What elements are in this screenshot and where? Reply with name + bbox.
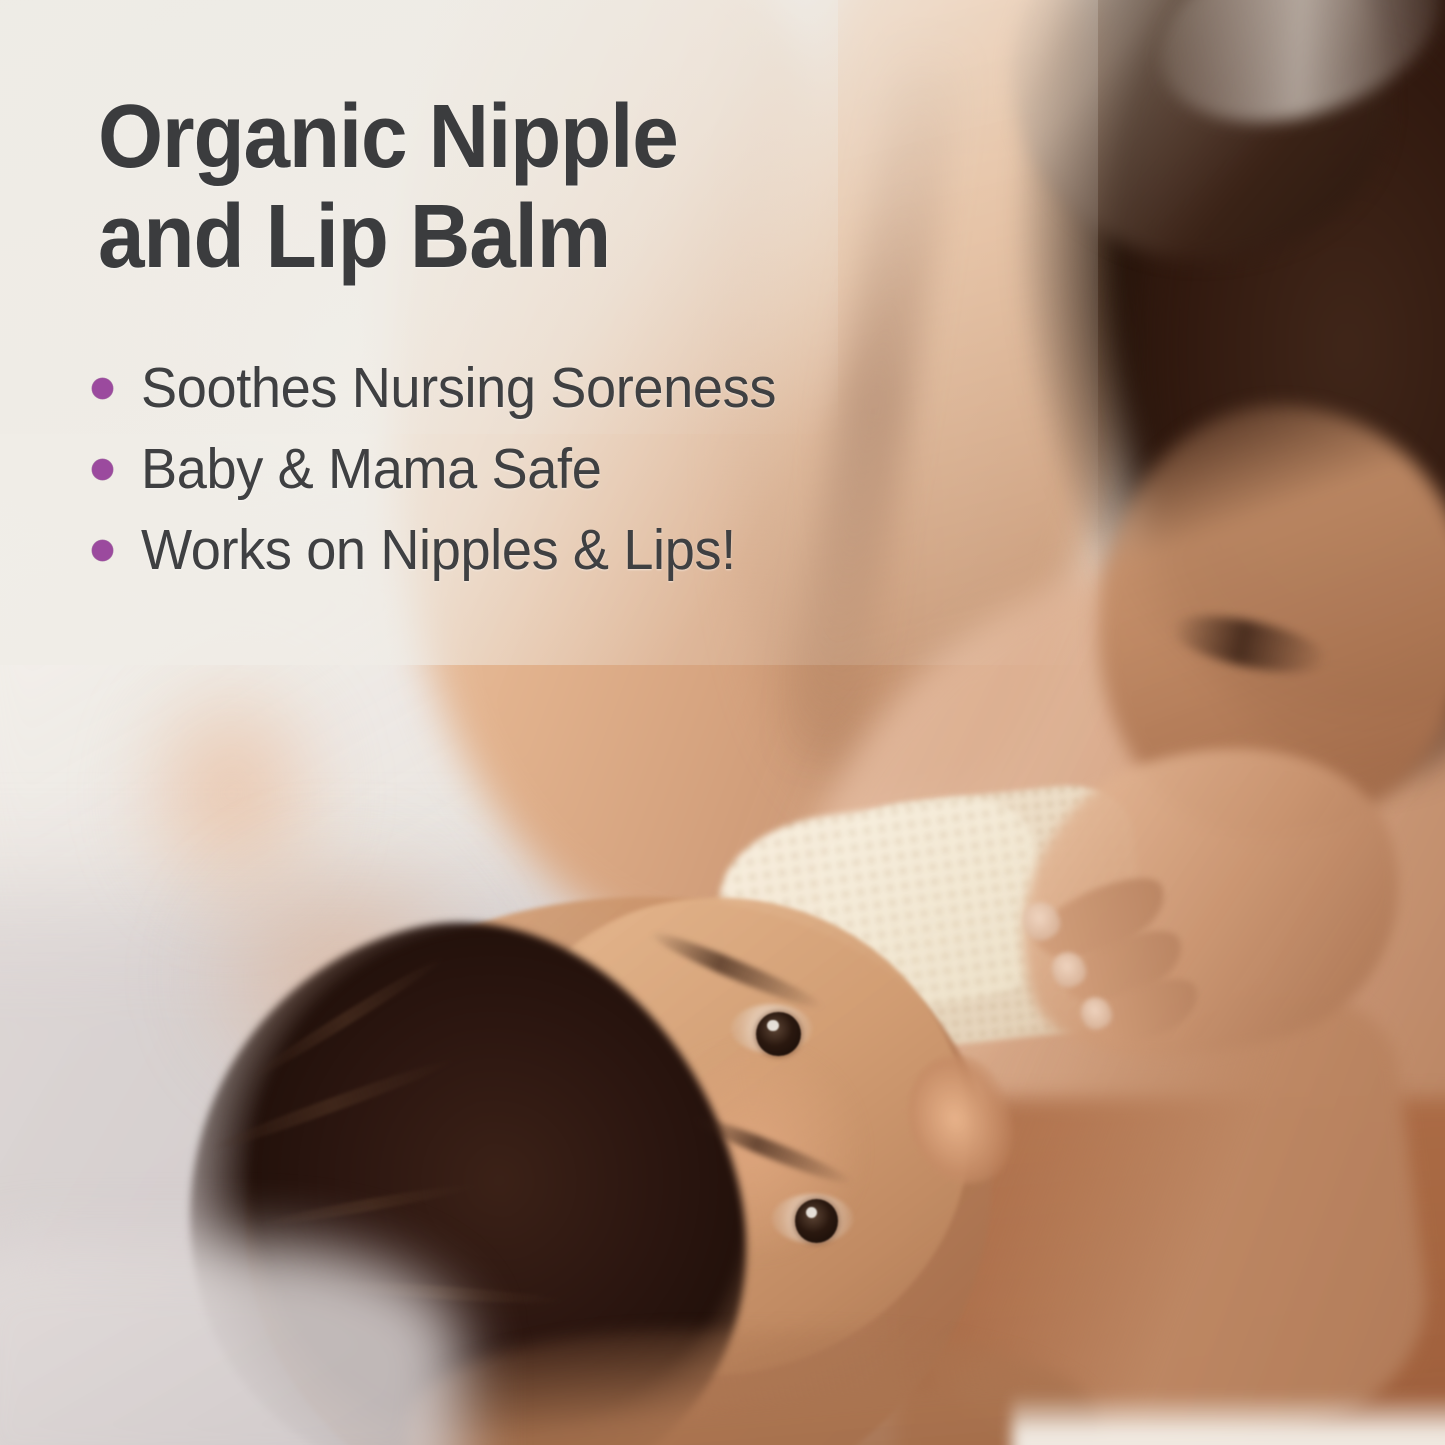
list-item: Works on Nipples & Lips! [92, 510, 1012, 591]
benefit-label: Baby & Mama Safe [141, 441, 601, 498]
list-item: Baby & Mama Safe [92, 429, 1012, 510]
product-hero-image: Organic Nipple and Lip Balm Soothes Nurs… [0, 0, 1445, 1445]
list-item: Soothes Nursing Soreness [92, 348, 1012, 429]
benefit-label: Soothes Nursing Soreness [141, 360, 776, 417]
bullet-dot-icon [92, 378, 113, 399]
baby-eye-upper [756, 1012, 801, 1057]
benefit-label: Works on Nipples & Lips! [141, 522, 736, 579]
page-title: Organic Nipple and Lip Balm [98, 88, 805, 288]
bed-sheet-bottom-right [1012, 1394, 1445, 1445]
bullet-dot-icon [92, 459, 113, 480]
bed-sheet-bottom-left [0, 1243, 462, 1445]
bullet-dot-icon [92, 540, 113, 561]
baby-eye-lower [795, 1199, 838, 1242]
benefit-list: Soothes Nursing Soreness Baby & Mama Saf… [92, 348, 1012, 591]
